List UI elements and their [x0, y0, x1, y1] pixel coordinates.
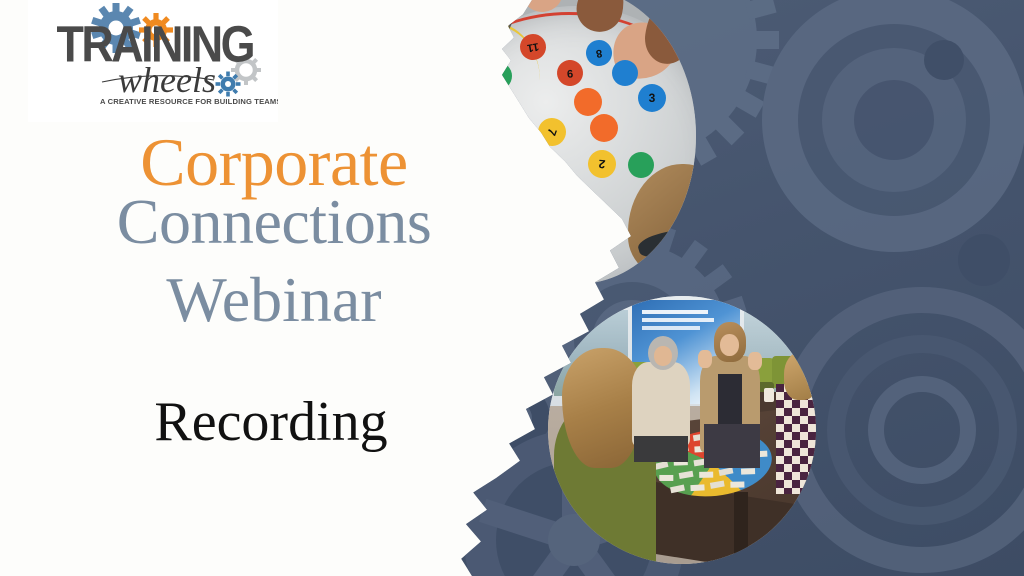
photo-team-workshop: [548, 296, 816, 564]
logo-gear-blue-small: [216, 72, 241, 97]
table-leg: [734, 492, 748, 564]
banner-text-line: [642, 310, 708, 314]
mat-dot: [628, 152, 654, 178]
gear-right-upper: [762, 0, 1024, 252]
logo-tagline: A CREATIVE RESOURCE FOR BUILDING TEAMS: [100, 97, 278, 106]
training-wheels-logo[interactable]: TRAINING wheels A CREATIVE RESOURCE FOR …: [28, 0, 278, 122]
title-line-webinar: Webinar: [0, 268, 530, 332]
person-center-pants: [634, 436, 688, 462]
person-far-right-dress: [776, 384, 816, 494]
mat-dot: [478, 98, 506, 126]
presentation-slide: 11 8 9 3 7 2 10: [0, 0, 1024, 576]
banner-text-line: [642, 318, 714, 322]
title-line-connections: Connections: [0, 190, 530, 254]
person-center-face: [654, 346, 672, 366]
hand-raised-left: [698, 350, 712, 368]
logo-artwork: TRAINING wheels A CREATIVE RESOURCE FOR …: [28, 0, 278, 122]
mat-dot: [484, 62, 512, 90]
mat-dot: [612, 60, 638, 86]
mat-dot: 3: [638, 84, 666, 112]
mat-dot: 10: [557, 185, 588, 216]
mat-dot: [590, 114, 618, 142]
person-right-face: [720, 334, 739, 356]
hand-raised-right: [748, 352, 762, 370]
logo-wordmark-wheels: wheels: [118, 60, 216, 100]
banner-text-line: [642, 326, 700, 330]
person-right-skirt: [704, 424, 760, 468]
slide-title-block: Corporate Connections Webinar Recording: [0, 128, 530, 450]
person-far-right-hair: [784, 352, 816, 400]
cup: [764, 388, 774, 402]
title-line-recording: Recording: [0, 394, 530, 450]
gear-right-lower-ring: [792, 300, 1024, 560]
person-center-body: [632, 362, 690, 446]
mat-dot: [574, 88, 602, 116]
